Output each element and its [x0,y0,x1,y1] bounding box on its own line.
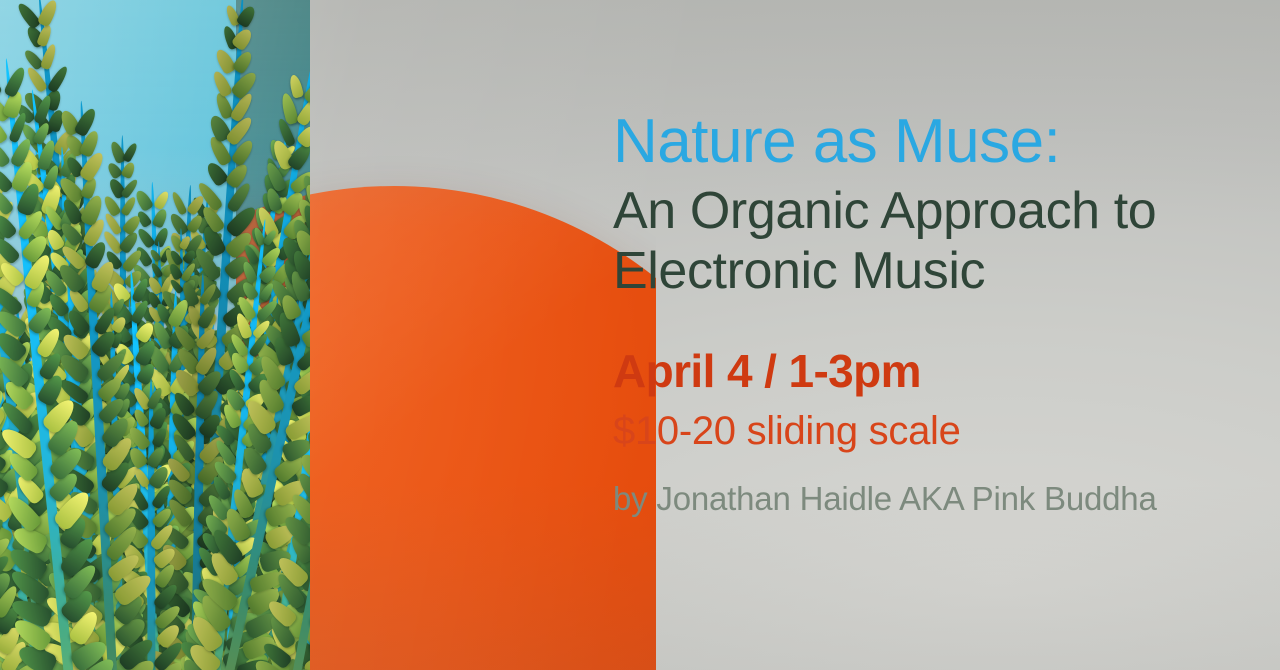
sprig-leaf [153,190,171,211]
event-poster: Nature as Muse: An Organic Approach to E… [0,0,1280,670]
